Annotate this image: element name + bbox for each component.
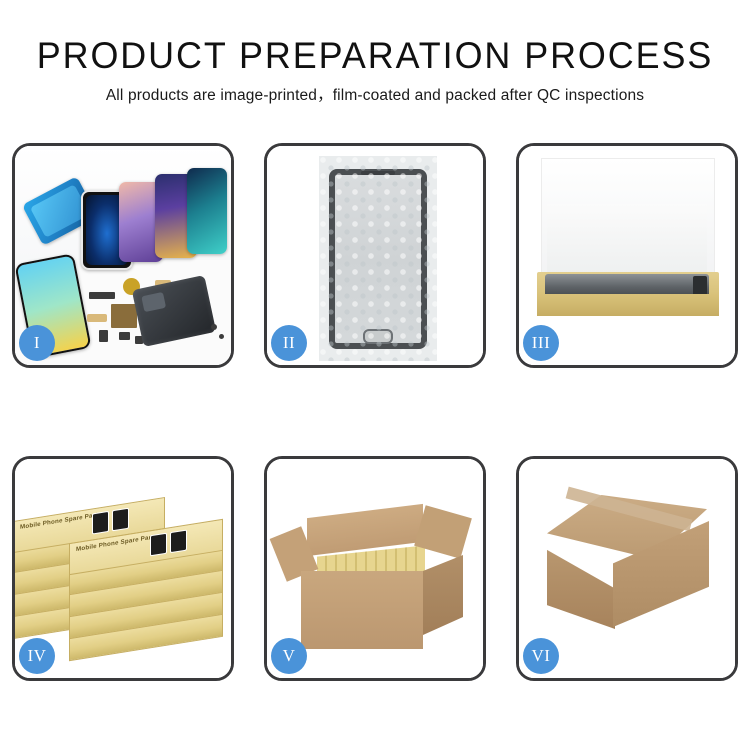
step-badge-1: I [19, 325, 55, 361]
bubble-wrap-sheet [319, 156, 437, 361]
step-badge-5: V [271, 638, 307, 674]
carton-left-face [547, 537, 615, 629]
kraft-box-front [537, 294, 719, 316]
page-subtitle: All products are image-printed，film-coat… [0, 85, 750, 107]
step-panel-5: V [264, 456, 486, 681]
bubble-texture [319, 156, 437, 361]
step-panel-3: III [516, 143, 738, 368]
box-stack: Mobile Phone Spare Parts Mobile Phone Sp… [15, 493, 231, 663]
process-steps-grid: I II [12, 143, 738, 683]
page-title: PRODUCT PREPARATION PROCESS [11, 34, 739, 78]
phone-backplate [132, 275, 216, 347]
carton-side-face [423, 555, 463, 635]
box-label-1: Mobile Phone Spare Parts [20, 511, 101, 531]
foam-padding [547, 204, 707, 274]
carton-front-face [301, 571, 423, 649]
teal-phone [187, 168, 227, 254]
step-panel-1: I [12, 143, 234, 368]
step-badge-2: II [271, 325, 307, 361]
step-panel-2: II [264, 143, 486, 368]
step-badge-4: IV [19, 638, 55, 674]
header: PRODUCT PREPARATION PROCESS All products… [0, 34, 750, 107]
step-panel-4: Mobile Phone Spare Parts Mobile Phone Sp… [12, 456, 234, 681]
step-panel-6: VI [516, 456, 738, 681]
step-badge-3: III [523, 325, 559, 361]
step-badge-6: VI [523, 638, 559, 674]
product-preparation-page: PRODUCT PREPARATION PROCESS All products… [0, 0, 750, 750]
